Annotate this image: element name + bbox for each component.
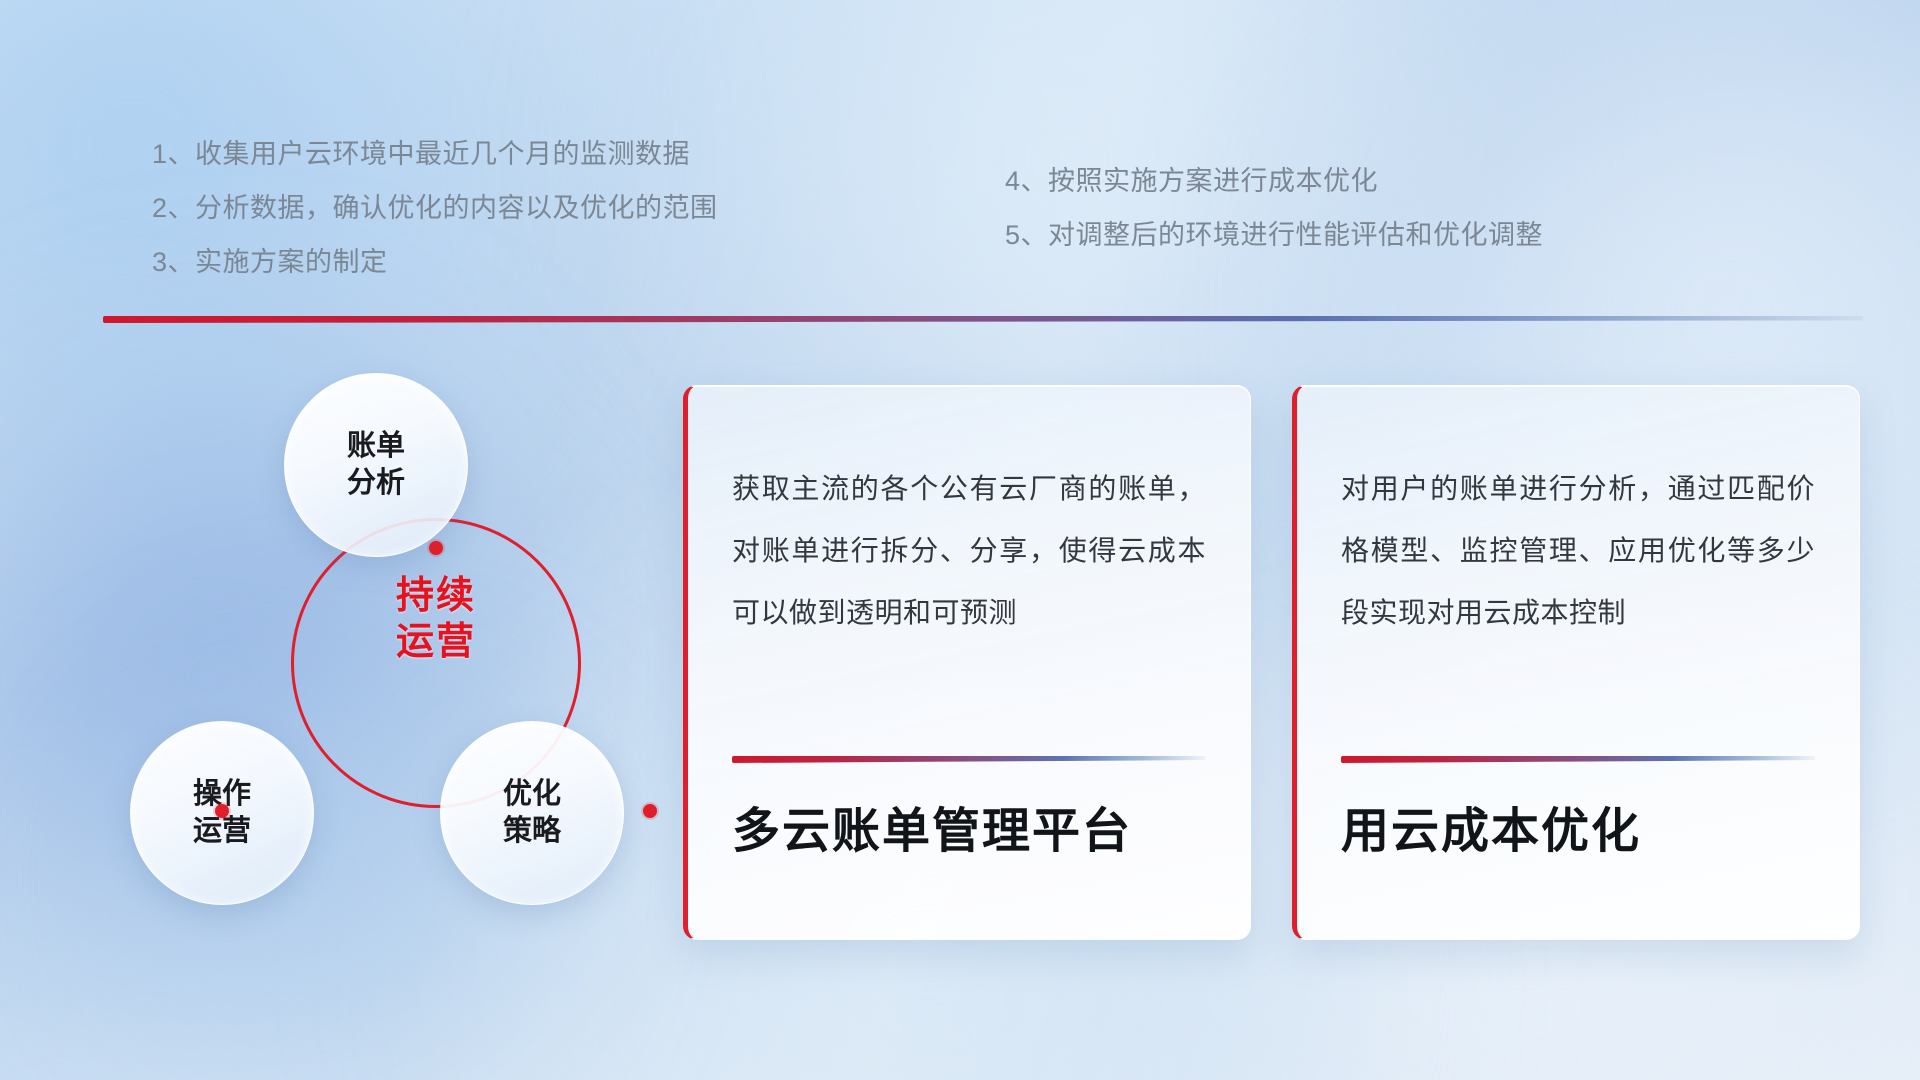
feature-card-divider	[1341, 756, 1815, 763]
diagram-bubble-bill-analysis-label: 账单分析	[347, 428, 405, 502]
feature-card-cloud-cost-optimization[interactable]: 对用户的账单进行分析，通过匹配价格模型、监控管理、应用优化等多少段实现对用云成本…	[1292, 385, 1860, 940]
feature-card-title: 多云账单管理平台	[732, 791, 1214, 861]
diagram-node-dot-left	[215, 804, 229, 818]
steps-list: 1、收集用户云环境中最近几个月的监测数据 2、分析数据，确认优化的内容以及优化的…	[0, 0, 1920, 300]
feature-card-multi-cloud-bill-platform[interactable]: 获取主流的各个公有云厂商的账单，对账单进行拆分、分享，使得云成本可以做到透明和可…	[683, 385, 1251, 940]
diagram-center-label: 持续 运营	[321, 573, 551, 666]
diagram-node-dot-top	[429, 541, 443, 555]
step-item-4: 4、按照实施方案进行成本优化	[1005, 159, 1378, 198]
feature-card-body: 对用户的账单进行分析，通过匹配价格模型、监控管理、应用优化等多少段实现对用云成本…	[1341, 458, 1815, 644]
diagram-bubble-optimization-strategy-label: 优化策略	[503, 776, 561, 850]
step-item-2: 2、分析数据，确认优化的内容以及优化的范围	[152, 186, 718, 225]
feature-card-divider	[732, 756, 1206, 763]
diagram-bubble-optimization-strategy[interactable]: 优化策略	[440, 721, 624, 905]
diagram-node-dot-right	[643, 804, 657, 818]
feature-card-body: 获取主流的各个公有云厂商的账单，对账单进行拆分、分享，使得云成本可以做到透明和可…	[732, 458, 1206, 644]
diagram-bubble-bill-analysis[interactable]: 账单分析	[284, 373, 468, 557]
step-item-3: 3、实施方案的制定	[152, 240, 388, 279]
step-item-5: 5、对调整后的环境进行性能评估和优化调整	[1005, 213, 1543, 252]
diagram-center-label-line1: 持续	[321, 573, 551, 619]
continuous-operation-diagram: 账单分析 操作运营 优化策略 持续 运营	[95, 355, 635, 955]
step-item-1: 1、收集用户云环境中最近几个月的监测数据	[152, 132, 690, 171]
feature-card-title: 用云成本优化	[1341, 791, 1823, 861]
diagram-center-label-line2: 运营	[321, 619, 551, 665]
